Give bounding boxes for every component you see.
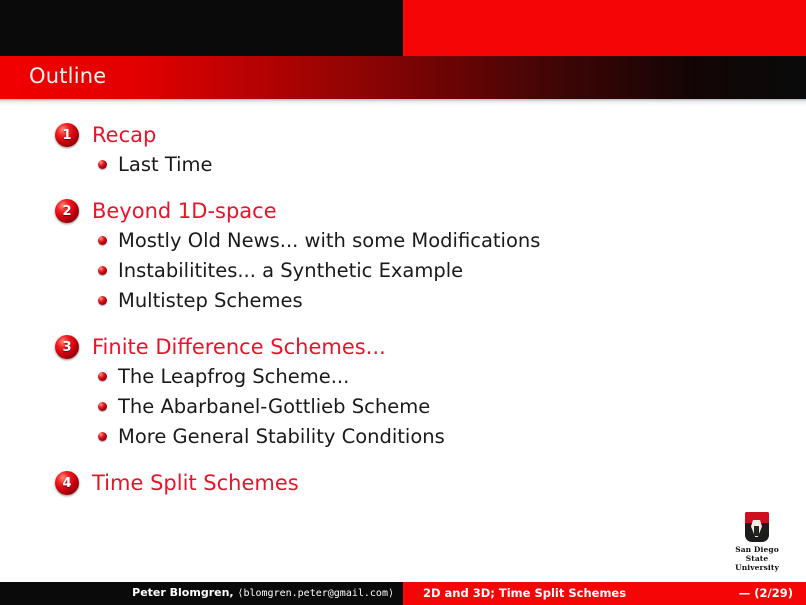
section-title[interactable]: Beyond 1D-space <box>92 199 277 223</box>
list-item[interactable]: The Abarbanel-Gottlieb Scheme <box>0 392 806 422</box>
footer-subject-text: 2D and 3D; Time Split Schemes <box>423 586 626 600</box>
list-item[interactable]: The Leapfrog Scheme... <box>0 362 806 392</box>
logo-line-1: San Diego State <box>726 545 788 563</box>
logo-line-2: University <box>726 563 788 572</box>
subsection-label: The Leapfrog Scheme... <box>118 362 349 391</box>
bullet-dot-icon <box>98 432 107 441</box>
list-item[interactable]: Last Time <box>0 150 806 180</box>
outline-section: 1 Recap Last Time <box>0 120 806 180</box>
bullet-dot-icon <box>98 236 107 245</box>
title-bar-shadow <box>0 99 806 106</box>
footer-author-block: Peter Blomgren, ⟨blomgren.peter@gmail.co… <box>0 582 403 605</box>
bullet-dot-icon <box>98 296 107 305</box>
footer-author-email: ⟨blomgren.peter@gmail.com⟩ <box>237 588 394 599</box>
section-number-badge: 4 <box>55 471 79 495</box>
section-title[interactable]: Time Split Schemes <box>92 471 299 495</box>
subsection-list: Last Time <box>0 150 806 180</box>
top-decoration-bar <box>0 0 806 56</box>
list-item[interactable]: Instabilitites... a Synthetic Example <box>0 256 806 286</box>
outline-section-header[interactable]: 2 Beyond 1D-space <box>0 196 806 226</box>
section-number-badge: 3 <box>55 335 79 359</box>
section-title[interactable]: Finite Difference Schemes... <box>92 335 386 359</box>
outline-section-header[interactable]: 1 Recap <box>0 120 806 150</box>
footer-author-text: Peter Blomgren, ⟨blomgren.peter@gmail.co… <box>132 586 394 599</box>
bullet-dot-icon <box>98 372 107 381</box>
outline-section: 3 Finite Difference Schemes... The Leapf… <box>0 332 806 452</box>
bullet-dot-icon <box>98 160 107 169</box>
slide-footer: Peter Blomgren, ⟨blomgren.peter@gmail.co… <box>0 582 806 605</box>
list-item[interactable]: Mostly Old News... with some Modificatio… <box>0 226 806 256</box>
subsection-list: Mostly Old News... with some Modificatio… <box>0 226 806 316</box>
subsection-label: Last Time <box>118 150 213 179</box>
bullet-dot-icon <box>98 402 107 411</box>
outline-section: 4 Time Split Schemes <box>0 468 806 498</box>
top-bar-red-block <box>403 0 806 56</box>
footer-subject-block: 2D and 3D; Time Split Schemes — (2/29) <box>403 582 806 605</box>
subsection-label: More General Stability Conditions <box>118 422 445 451</box>
footer-author-name: Peter Blomgren, <box>132 586 233 599</box>
outline-list: 1 Recap Last Time 2 Beyond 1D-space Most… <box>0 120 806 514</box>
outline-section: 2 Beyond 1D-space Mostly Old News... wit… <box>0 196 806 316</box>
subsection-label: Mostly Old News... with some Modificatio… <box>118 226 540 255</box>
subsection-list: The Leapfrog Scheme... The Abarbanel-Got… <box>0 362 806 452</box>
section-number-badge: 1 <box>55 123 79 147</box>
crest-dark-shape <box>754 526 759 536</box>
footer-page-number: — (2/29) <box>739 586 793 600</box>
subsection-label: Multistep Schemes <box>118 286 303 315</box>
subsection-label: The Abarbanel-Gottlieb Scheme <box>118 392 430 421</box>
outline-section-header[interactable]: 3 Finite Difference Schemes... <box>0 332 806 362</box>
outline-section-header[interactable]: 4 Time Split Schemes <box>0 468 806 498</box>
list-item[interactable]: Multistep Schemes <box>0 286 806 316</box>
list-item[interactable]: More General Stability Conditions <box>0 422 806 452</box>
section-number-badge: 2 <box>55 199 79 223</box>
page-title: Outline <box>29 64 106 88</box>
subsection-label: Instabilitites... a Synthetic Example <box>118 256 463 285</box>
section-title[interactable]: Recap <box>92 123 156 147</box>
top-bar-black-block <box>0 0 403 56</box>
slide-title-bar: Outline <box>0 56 806 99</box>
sdsu-logo: San Diego State University <box>726 512 788 572</box>
sdsu-crest-icon <box>745 512 769 542</box>
bullet-dot-icon <box>98 266 107 275</box>
